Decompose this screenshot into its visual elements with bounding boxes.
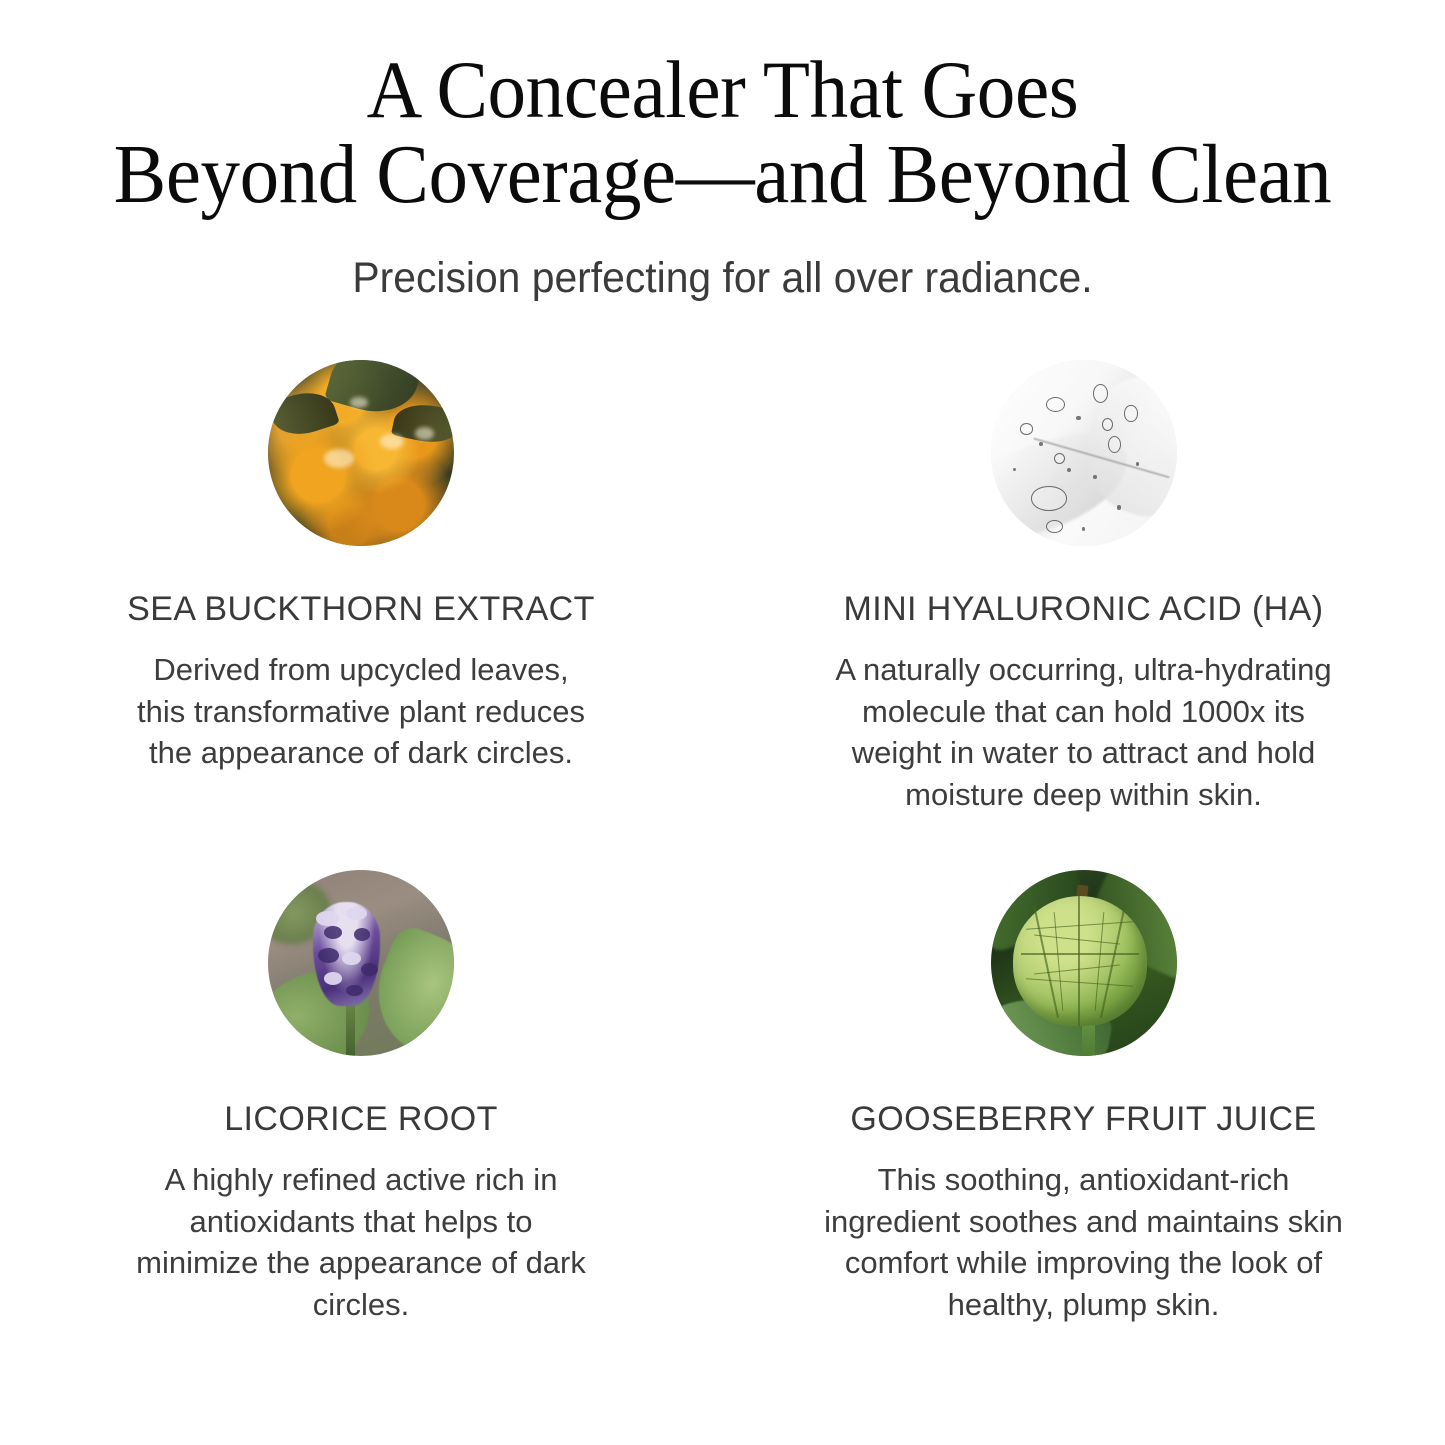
headline-line-2: Beyond Coverage—and Beyond Clean xyxy=(100,132,1346,218)
ingredient-description: A naturally occurring, ultra-hydrating m… xyxy=(819,629,1349,815)
header: A Concealer That Goes Beyond Coverage—an… xyxy=(0,48,1445,305)
ingredient-title: MINI HYALURONIC ACID (HA) xyxy=(844,546,1324,629)
ingredient-description: A highly refined active rich in antioxid… xyxy=(126,1139,596,1325)
sea-buckthorn-berries-photo xyxy=(268,360,454,546)
ingredient-card-gooseberry: GOOSEBERRY FRUIT JUICE This soothing, an… xyxy=(722,870,1445,1380)
licorice-root-flower-photo xyxy=(268,870,454,1056)
gooseberry-fruit-photo xyxy=(991,870,1177,1056)
ingredient-title: LICORICE ROOT xyxy=(224,1056,498,1139)
headline-line-1: A Concealer That Goes xyxy=(100,48,1346,132)
ingredient-card-licorice-root: LICORICE ROOT A highly refined active ri… xyxy=(0,870,722,1380)
ingredient-title: SEA BUCKTHORN EXTRACT xyxy=(127,546,595,629)
ingredient-card-hyaluronic-acid: MINI HYALURONIC ACID (HA) A naturally oc… xyxy=(722,360,1445,870)
ingredient-title: GOOSEBERRY FRUIT JUICE xyxy=(850,1056,1316,1139)
ingredients-grid: SEA BUCKTHORN EXTRACT Derived from upcyc… xyxy=(0,360,1445,1380)
page-subtitle: Precision perfecting for all over radian… xyxy=(36,217,1409,305)
ingredient-card-sea-buckthorn: SEA BUCKTHORN EXTRACT Derived from upcyc… xyxy=(0,360,722,870)
ingredient-description: Derived from upcycled leaves, this trans… xyxy=(126,629,596,774)
ingredient-infographic: A Concealer That Goes Beyond Coverage—an… xyxy=(0,0,1445,1445)
page-title: A Concealer That Goes Beyond Coverage—an… xyxy=(43,48,1401,217)
hyaluronic-acid-gel-photo xyxy=(991,360,1177,546)
ingredient-description: This soothing, antioxidant-rich ingredie… xyxy=(819,1139,1349,1325)
